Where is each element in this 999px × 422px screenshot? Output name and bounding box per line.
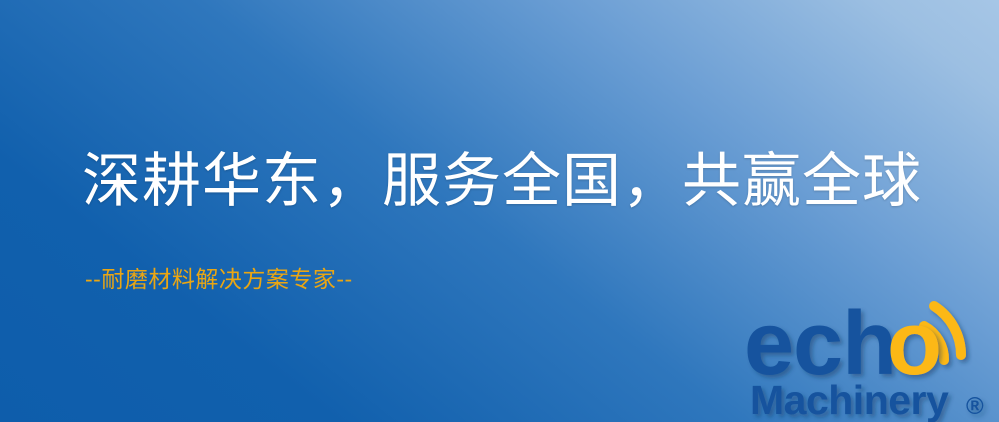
logo-graphic: ech o Machinery ® (744, 292, 999, 422)
company-logo[interactable]: ech o Machinery ® (744, 292, 999, 422)
hero-banner: 深耕华东，服务全国，共赢全球 --耐磨材料解决方案专家-- ech o Mach… (0, 0, 999, 422)
page-title: 深耕华东，服务全国，共赢全球 (82, 152, 922, 211)
logo-registered-mark: ® (966, 393, 984, 420)
logo-tagline: Machinery (750, 377, 949, 422)
page-subtitle: --耐磨材料解决方案专家-- (85, 268, 353, 291)
